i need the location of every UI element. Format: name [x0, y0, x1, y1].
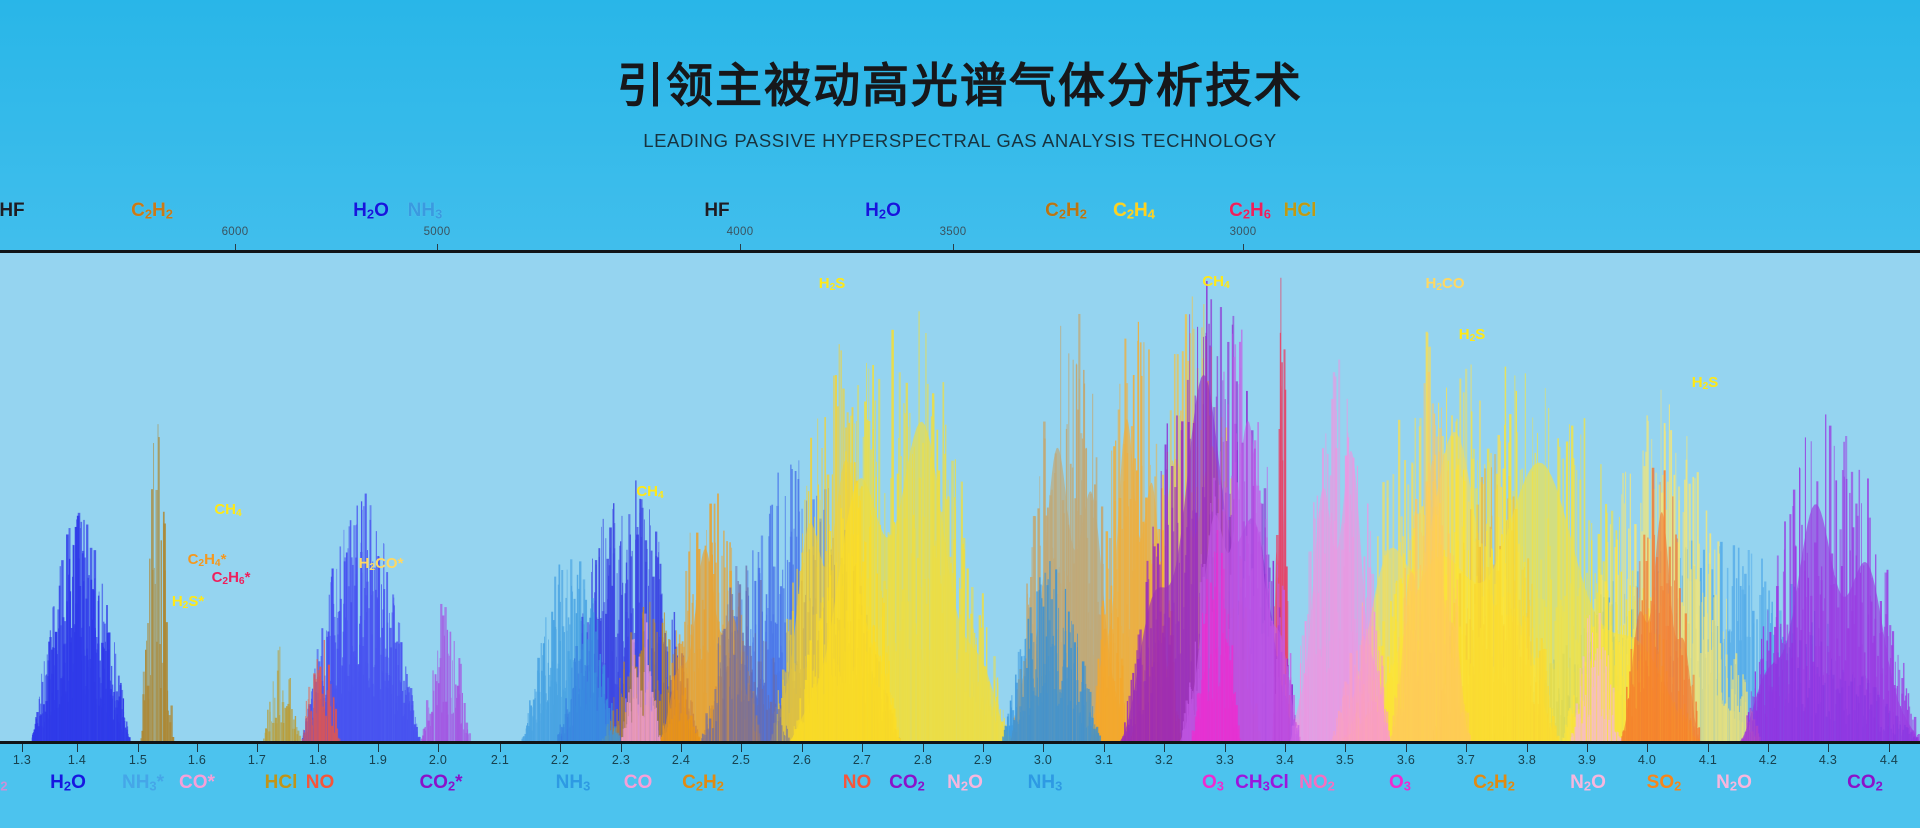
bottom-tick-label-2.8: 2.8 [914, 753, 932, 767]
bottom-tick-label-3.5: 3.5 [1336, 753, 1354, 767]
bottom-tick-label-4.1: 4.1 [1699, 753, 1717, 767]
top-gas-label-nh3: NH3 [408, 200, 443, 222]
bottom-gas-label-so2: SO2 [1647, 772, 1682, 794]
top-gas-label-hf: HF [0, 200, 25, 222]
top-gas-label-h2o: H2O [353, 200, 389, 222]
bottom-tick-mark-3.3 [1225, 744, 1226, 752]
bottom-tick-label-1.9: 1.9 [369, 753, 387, 767]
top-gas-label-hf_2: HF [704, 200, 729, 222]
spectrum-band-ch4-5 [140, 424, 174, 741]
bottom-tick-label-2.1: 2.1 [491, 753, 509, 767]
spectrum-band-c2h4-15 [790, 311, 1011, 741]
bottom-tick-label-3.0: 3.0 [1034, 753, 1052, 767]
bottom-tick-mark-2.5 [741, 744, 742, 752]
bottom-tick-mark-2.4 [681, 744, 682, 752]
bottom-tick-mark-3.2 [1164, 744, 1165, 752]
top-gas-label-hcl: HCl [1284, 200, 1317, 222]
bottom-gas-label-o3: O3 [1202, 772, 1224, 794]
bottom-tick-mark-3.6 [1406, 744, 1407, 752]
top-tick-label-6000: 6000 [222, 226, 249, 238]
bottom-tick-mark-3.0 [1043, 744, 1044, 752]
spectrum-band-no2-21 [1290, 360, 1390, 741]
bottom-tick-label-2.4: 2.4 [672, 753, 690, 767]
bottom-tick-mark-4.3 [1828, 744, 1829, 752]
top-gas-label-c2h2: C2H2 [131, 200, 173, 222]
bottom-tick-label-3.8: 3.8 [1518, 753, 1536, 767]
bottom-tick-mark-2.0 [438, 744, 439, 752]
bottom-tick-mark-3.4 [1285, 744, 1286, 752]
bottom-tick-label-3.2: 3.2 [1155, 753, 1173, 767]
bottom-tick-mark-3.8 [1527, 744, 1528, 752]
bottom-tick-label-2.7: 2.7 [853, 753, 871, 767]
bottom-tick-label-4.4: 4.4 [1880, 753, 1898, 767]
spectrum-plot-area: CH4C2H4*C2H6*H2S*H2CO*CH4H2SCH4H2COH2SH2… [0, 253, 1920, 741]
bottom-gas-label-co-star: CO* [179, 772, 215, 794]
page-title: 引领主被动高光谱气体分析技术 [0, 0, 1920, 111]
bottom-gas-label-c2h2-2: C2H2 [1473, 772, 1515, 794]
bottom-gas-label-n2o-3: N2O [1716, 772, 1752, 794]
top-tick-label-3000: 3000 [1230, 226, 1257, 238]
bottom-gas-label-nh3-star: NH3* [122, 772, 164, 794]
bottom-tick-mark-4.0 [1647, 744, 1648, 752]
bottom-tick-label-1.5: 1.5 [129, 753, 147, 767]
bottom-tick-label-2.2: 2.2 [551, 753, 569, 767]
bottom-axis-band: 1.31.41.51.61.71.81.92.02.12.22.32.42.52… [0, 744, 1920, 828]
bottom-tick-label-3.9: 3.9 [1578, 753, 1596, 767]
bottom-tick-label-3.3: 3.3 [1216, 753, 1234, 767]
bottom-gas-label-nh3-2: NH3 [1028, 772, 1063, 794]
bottom-tick-mark-1.8 [318, 744, 319, 752]
bottom-gas-label-o3-2: O3 [1389, 772, 1411, 794]
bottom-tick-label-3.6: 3.6 [1397, 753, 1415, 767]
bottom-gas-label-ch3cl: CH3Cl [1235, 772, 1289, 794]
bottom-tick-label-1.3: 1.3 [13, 753, 31, 767]
bottom-tick-mark-3.5 [1345, 744, 1346, 752]
bottom-gas-label-co2: CO2 [889, 772, 925, 794]
bottom-gas-label-n2o: N2O [947, 772, 983, 794]
bottom-tick-mark-1.4 [77, 744, 78, 752]
bottom-tick-mark-2.2 [560, 744, 561, 752]
spectra-traces [0, 253, 1920, 741]
bottom-tick-mark-2.3 [621, 744, 622, 752]
bottom-tick-label-2.3: 2.3 [612, 753, 630, 767]
top-gas-label-c2h2_2: C2H2 [1045, 200, 1087, 222]
spectrum-band-co2-20 [421, 604, 471, 741]
bottom-tick-label-2.6: 2.6 [793, 753, 811, 767]
bottom-tick-mark-1.9 [378, 744, 379, 752]
top-gas-label-h2o_2: H2O [865, 200, 901, 222]
bottom-tick-mark-4.1 [1708, 744, 1709, 752]
bottom-tick-label-1.6: 1.6 [188, 753, 206, 767]
bottom-tick-mark-3.9 [1587, 744, 1588, 752]
bottom-tick-mark-2.9 [983, 744, 984, 752]
bottom-tick-label-1.8: 1.8 [309, 753, 327, 767]
bottom-gas-label-nh3: NH3 [556, 772, 591, 794]
bottom-tick-label-4.0: 4.0 [1638, 753, 1656, 767]
bottom-gas-label-h2o: H2O [50, 772, 86, 794]
bottom-tick-label-1.4: 1.4 [68, 753, 86, 767]
top-tick-label-5000: 5000 [424, 226, 451, 238]
bottom-tick-label-2.0: 2.0 [429, 753, 447, 767]
spectrum-band-h2o-0 [32, 513, 131, 741]
bottom-tick-label-3.4: 3.4 [1276, 753, 1294, 767]
bottom-tick-mark-2.8 [923, 744, 924, 752]
bottom-tick-label-3.1: 3.1 [1095, 753, 1113, 767]
top-axis-band: HFC2H2H2ONH3HFH2OC2H2C2H4C2H6HCl60005000… [0, 200, 1920, 252]
bottom-tick-label-4.3: 4.3 [1819, 753, 1837, 767]
top-tick-label-3500: 3500 [940, 226, 967, 238]
spectrum-chart: CH4C2H4*C2H6*H2S*H2CO*CH4H2SCH4H2COH2SH2… [0, 250, 1920, 744]
spectrum-band-co2-19 [1740, 414, 1920, 741]
bottom-tick-label-2.9: 2.9 [974, 753, 992, 767]
bottom-gas-label-co2-star: CO2* [419, 772, 462, 794]
bottom-gas-label-no-2: NO [843, 772, 872, 794]
bottom-gas-label-n2o-2: N2O [1570, 772, 1606, 794]
header: 引领主被动高光谱气体分析技术 LEADING PASSIVE HYPERSPEC… [0, 0, 1920, 200]
bottom-tick-mark-3.7 [1466, 744, 1467, 752]
bottom-tick-mark-1.6 [197, 744, 198, 752]
bottom-tick-mark-4.2 [1768, 744, 1769, 752]
top-tick-label-4000: 4000 [727, 226, 754, 238]
bottom-gas-label-co: CO [624, 772, 653, 794]
bottom-gas-label-no: NO [306, 772, 335, 794]
bottom-tick-label-3.7: 3.7 [1457, 753, 1475, 767]
spectrum-band-hcl-27 [263, 647, 301, 741]
bottom-tick-mark-3.1 [1104, 744, 1105, 752]
bottom-tick-label-2.5: 2.5 [732, 753, 750, 767]
top-gas-label-c2h4: C2H4 [1113, 200, 1155, 222]
bottom-tick-mark-1.5 [138, 744, 139, 752]
bottom-tick-mark-1.3 [22, 744, 23, 752]
top-gas-label-c2h6: C2H6 [1229, 200, 1271, 222]
poster-root: 引领主被动高光谱气体分析技术 LEADING PASSIVE HYPERSPEC… [0, 0, 1920, 828]
bottom-gas-label-hcl: HCl [265, 772, 298, 794]
bottom-gas-label-co2-2: CO2 [1847, 772, 1883, 794]
bottom-tick-mark-4.4 [1889, 744, 1890, 752]
bottom-tick-mark-2.6 [802, 744, 803, 752]
page-subtitle: LEADING PASSIVE HYPERSPECTRAL GAS ANALYS… [0, 111, 1920, 152]
bottom-tick-mark-2.7 [862, 744, 863, 752]
bottom-tick-mark-2.1 [500, 744, 501, 752]
bottom-gas-label-co2-cut: 2 [0, 772, 7, 794]
bottom-gas-label-no2: NO2 [1299, 772, 1335, 794]
bottom-tick-label-1.7: 1.7 [248, 753, 266, 767]
bottom-gas-label-c2h2: C2H2 [682, 772, 724, 794]
bottom-tick-mark-1.7 [257, 744, 258, 752]
bottom-tick-label-4.2: 4.2 [1759, 753, 1777, 767]
